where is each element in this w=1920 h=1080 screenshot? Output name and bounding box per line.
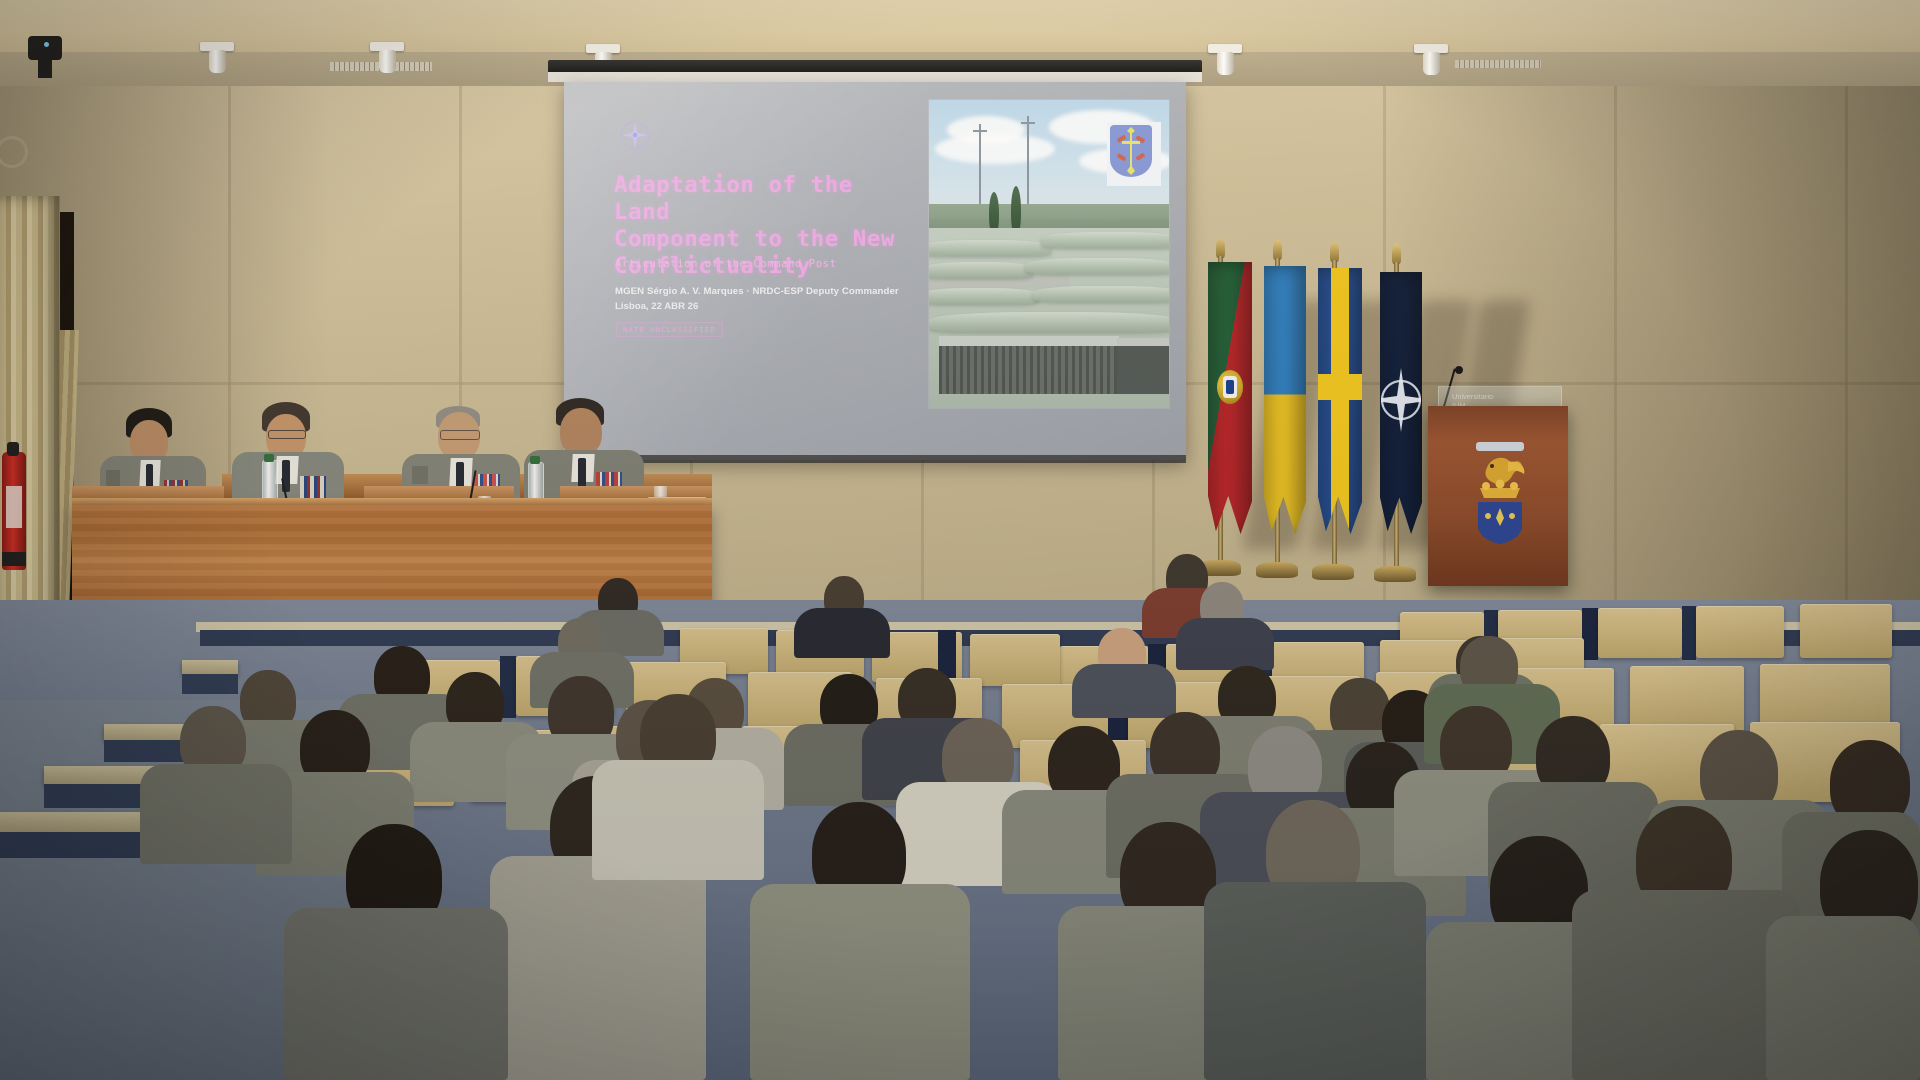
flag-sweden — [1318, 268, 1362, 534]
camera-arm — [38, 58, 52, 78]
flag-nato — [1380, 272, 1422, 534]
auditorium-seat[interactable] — [1598, 608, 1682, 658]
flag-portugal — [1208, 262, 1252, 534]
auditorium-seat[interactable] — [970, 634, 1060, 686]
fire-extinguisher-label — [6, 486, 22, 528]
podium-microphone-head — [1455, 366, 1463, 374]
flag-finial — [1330, 242, 1339, 262]
step[interactable] — [182, 660, 238, 674]
screen-glare — [564, 82, 1186, 460]
step-riser — [182, 674, 238, 694]
ceiling-vent — [1455, 60, 1541, 68]
flag-finial — [1216, 238, 1225, 258]
upper-wall — [0, 0, 1920, 60]
griffin-crest-icon — [1468, 440, 1532, 544]
auditorium-seat[interactable] — [1800, 604, 1892, 658]
flag-finial — [1273, 240, 1282, 260]
auditorium-scene: Adaptation of the Land Component to the … — [0, 0, 1920, 1080]
ceiling-camera-icon — [28, 36, 62, 60]
camera-led-icon — [44, 42, 49, 47]
flag-ukraine — [1264, 266, 1306, 534]
auditorium-seat[interactable] — [1696, 606, 1784, 658]
seat-divider — [1682, 606, 1696, 660]
flag-finial — [1392, 244, 1401, 264]
flag-base — [1256, 562, 1298, 578]
flag-base — [1312, 564, 1354, 580]
flag-base — [1374, 566, 1416, 582]
bottle-cap — [530, 456, 540, 464]
screen-bottom-bar — [564, 455, 1186, 463]
fire-extinguisher-base — [2, 552, 26, 566]
podium-text-line-1: Universitario — [1452, 392, 1548, 401]
fire-extinguisher-nozzle — [7, 442, 19, 456]
bottle-cap — [264, 454, 274, 462]
screen-roller — [548, 72, 1202, 82]
seat-divider — [1582, 608, 1598, 660]
